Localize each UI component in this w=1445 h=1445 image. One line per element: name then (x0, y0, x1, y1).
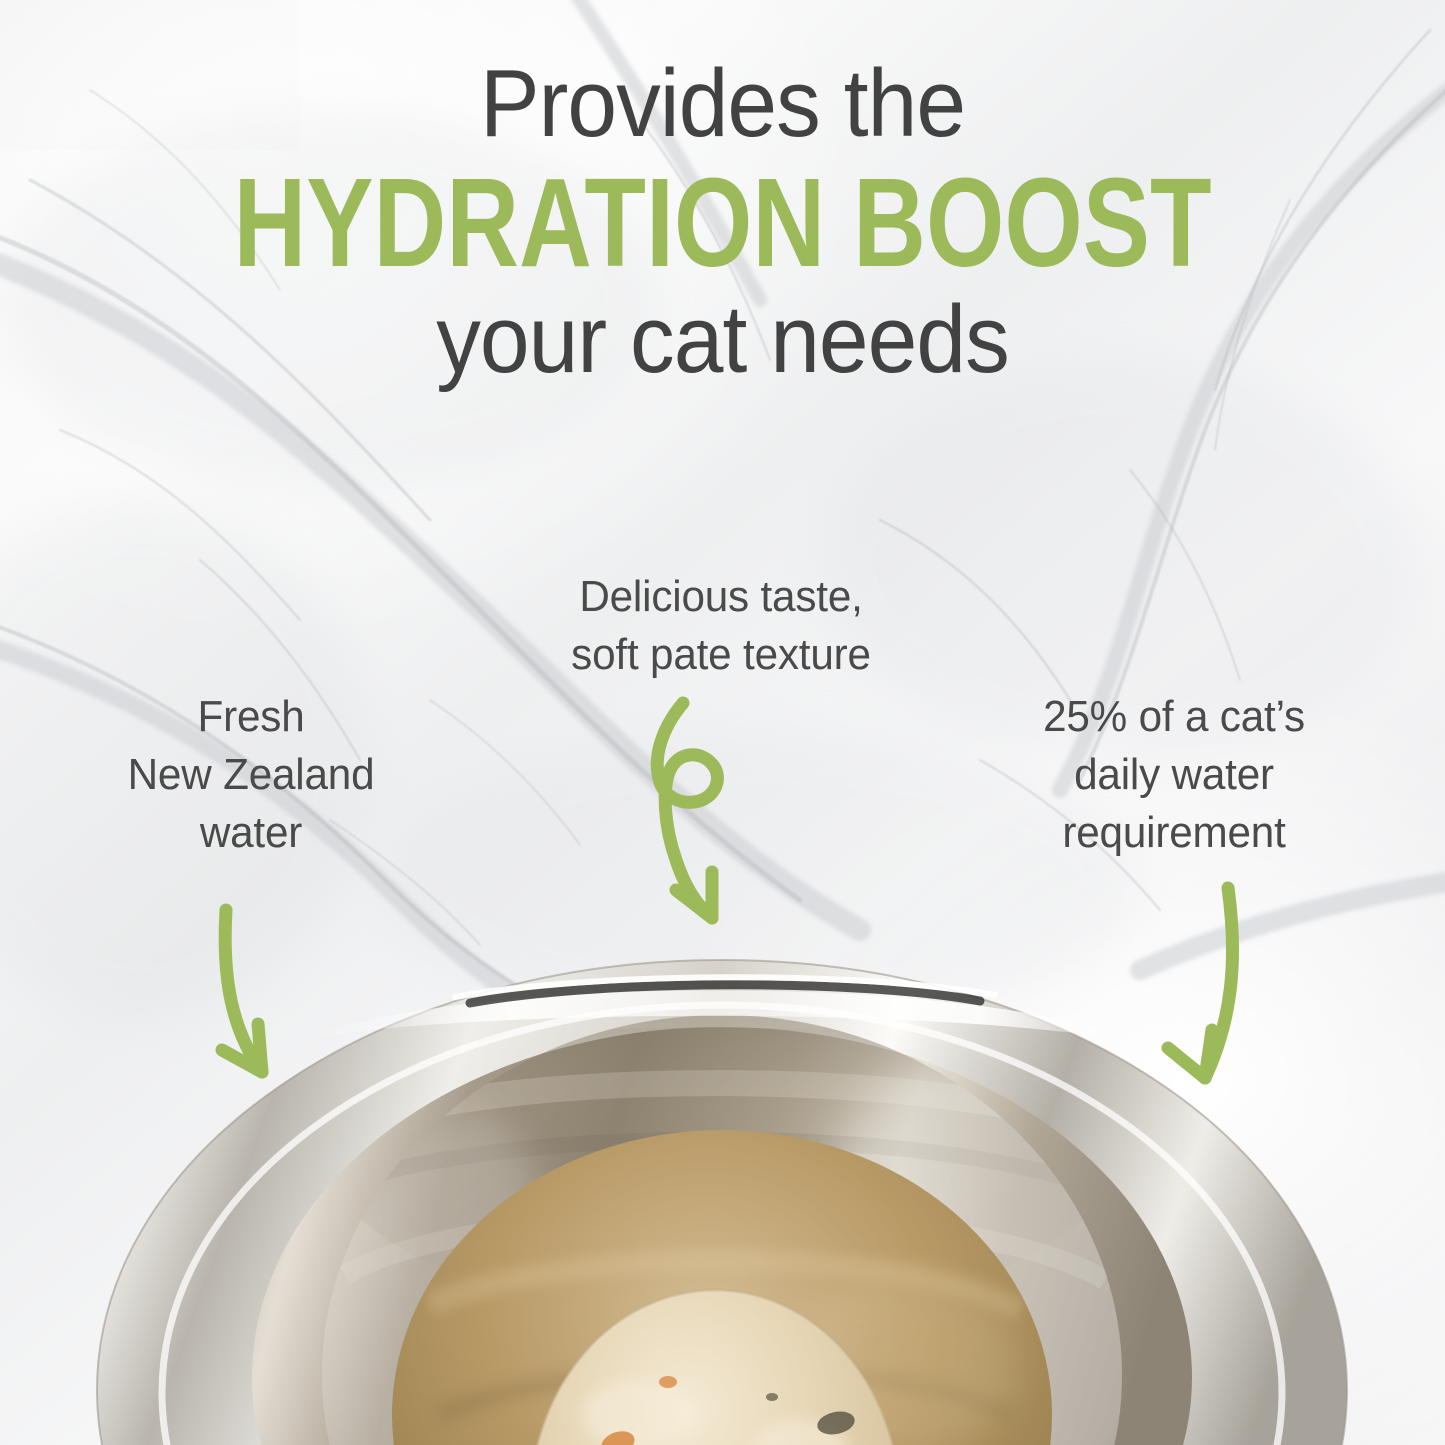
callout-line: Delicious taste, (528, 568, 914, 626)
callout-taste-texture: Delicious taste, soft pate texture (528, 568, 914, 684)
headline-block: Provides the HYDRATION BOOST your cat ne… (0, 56, 1445, 388)
bowl-illustration (0, 945, 1445, 1445)
product-photo-bowl (0, 945, 1445, 1445)
callout-daily-water: 25% of a cat’s daily water requirement (1007, 688, 1341, 862)
marketing-poster: Provides the HYDRATION BOOST your cat ne… (0, 0, 1445, 1445)
callout-fresh-water: Fresh New Zealand water (93, 688, 410, 862)
callout-line: New Zealand (93, 746, 410, 804)
callout-line: soft pate texture (528, 626, 914, 684)
headline-line-3: your cat needs (51, 292, 1395, 388)
callout-line: Fresh (93, 688, 410, 746)
callout-line: water (93, 804, 410, 862)
headline-line-2-accent: HYDRATION BOOST (145, 160, 1301, 286)
headline-line-1: Provides the (51, 56, 1395, 152)
callout-line: requirement (1007, 804, 1341, 862)
callout-line: 25% of a cat’s (1007, 688, 1341, 746)
callout-line: daily water (1007, 746, 1341, 804)
